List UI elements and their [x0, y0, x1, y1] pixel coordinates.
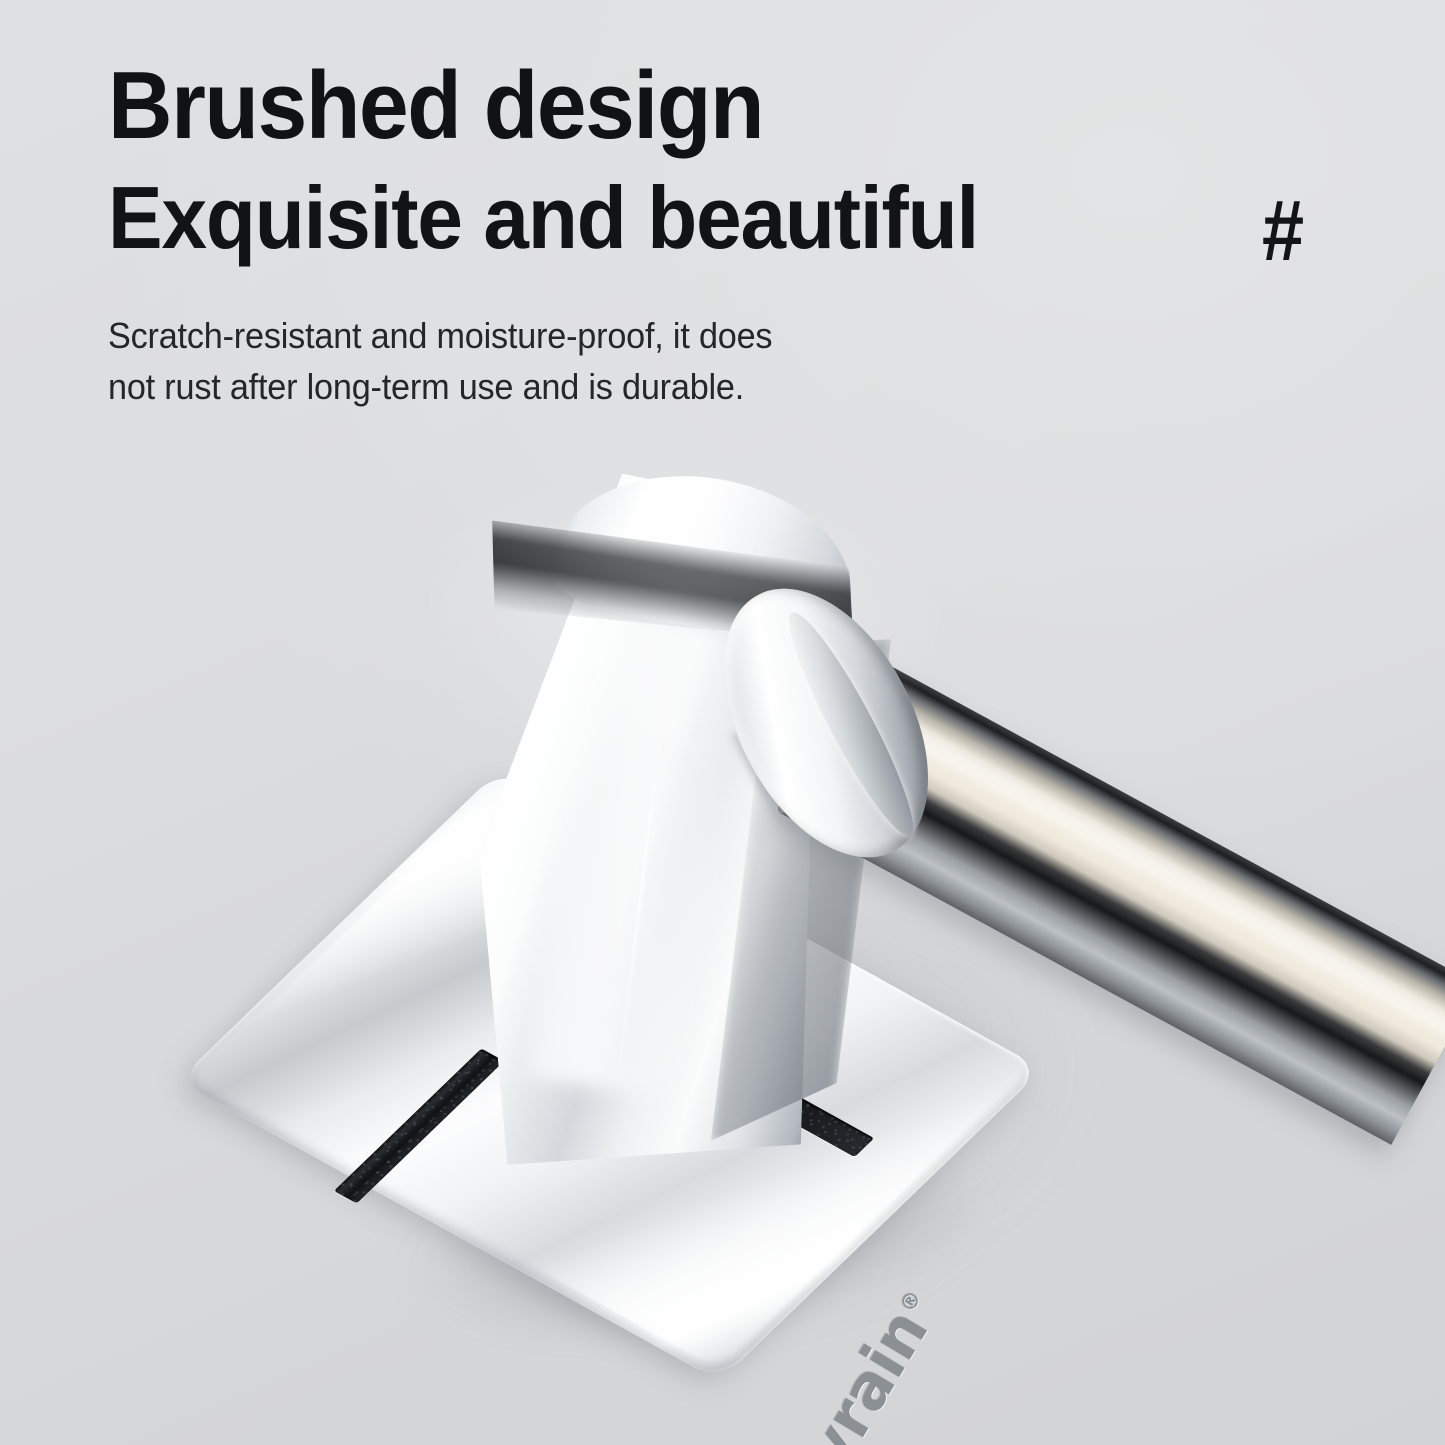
body-text-line-2: not rust after long-term use and is dura… [108, 361, 1106, 412]
hash-icon: # [1262, 188, 1304, 274]
body-text: Scratch-resistant and moisture-proof, it… [108, 310, 1106, 412]
body-text-line-1: Scratch-resistant and moisture-proof, it… [108, 310, 1106, 361]
page-title: Brushed design [108, 58, 1085, 154]
product-photo: Joyrain® [0, 430, 1445, 1445]
product-feature-image: Brushed design Exquisite and beautiful S… [0, 0, 1445, 1445]
page-subtitle: Exquisite and beautiful [108, 174, 1085, 262]
copy-block: Brushed design Exquisite and beautiful S… [108, 58, 1158, 412]
